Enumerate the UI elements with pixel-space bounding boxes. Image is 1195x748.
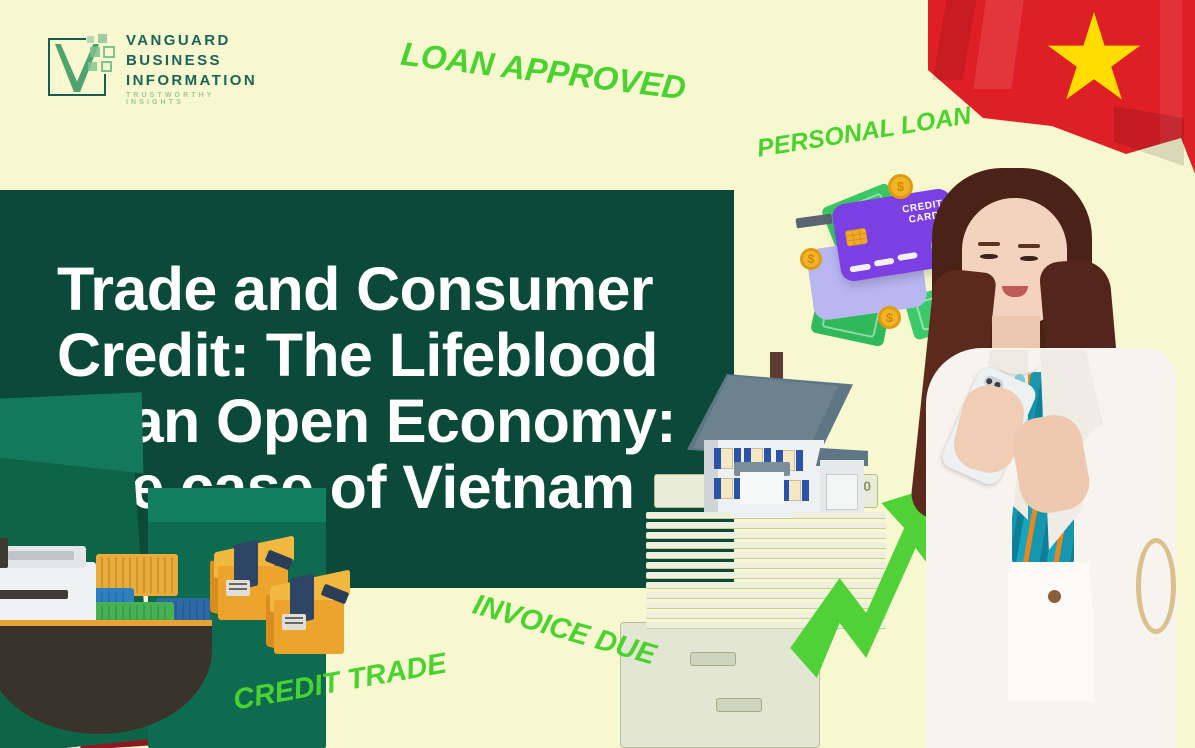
title-line: Credit: The Lifeblood	[57, 322, 697, 388]
title-line: of an Open Economy:	[57, 388, 697, 454]
shipping-box	[270, 578, 350, 654]
woman-with-phone-photo	[900, 150, 1195, 748]
house-base	[732, 504, 792, 518]
ship-cabin-band	[0, 590, 68, 599]
logo-square-icon	[103, 46, 115, 58]
title-line: Trade and Consumer	[57, 256, 697, 322]
card-stripe	[849, 263, 871, 272]
brand-logo[interactable]: VANGUARD BUSINESS INFORMATION TRUSTWORTH…	[46, 28, 261, 106]
trouser-button	[1048, 590, 1061, 603]
logo-square-icon	[87, 36, 94, 43]
logo-square-icon	[90, 47, 100, 57]
bag-strap	[1136, 538, 1176, 634]
house-model-icon	[690, 352, 860, 517]
logo-square-icon	[88, 62, 97, 71]
page-title: Trade and Consumer Credit: The Lifeblood…	[57, 256, 697, 520]
card-chip-icon	[845, 228, 868, 247]
ship-hull	[0, 626, 212, 734]
logo-line-business: BUSINESS	[126, 52, 222, 69]
logo-tagline: TRUSTWORTHY INSIGHTS	[126, 92, 261, 106]
bill-detail	[716, 698, 762, 712]
banner-canvas: VANGUARD BUSINESS INFORMATION TRUSTWORTH…	[0, 0, 1195, 748]
logo-line-information: INFORMATION	[126, 72, 257, 89]
white-trousers	[1008, 562, 1094, 702]
shopping-bag-fold	[148, 488, 326, 522]
dollar-coin-icon: $	[800, 248, 822, 270]
ship-windows	[8, 551, 74, 560]
label-loan-approved: LOAN APPROVED	[399, 35, 688, 108]
dollar-coin-icon: $	[878, 306, 901, 329]
shipping-boxes-icon	[214, 542, 374, 660]
ship-smokestack	[0, 538, 8, 568]
garage-door	[826, 474, 858, 510]
vanguard-v-logo-icon	[46, 30, 118, 100]
logo-line-vanguard: VANGUARD	[126, 32, 231, 49]
logo-square-icon	[101, 61, 112, 72]
card-stripe	[874, 258, 895, 267]
cargo-ship-icon	[0, 560, 226, 748]
logo-square-icon	[98, 34, 107, 43]
